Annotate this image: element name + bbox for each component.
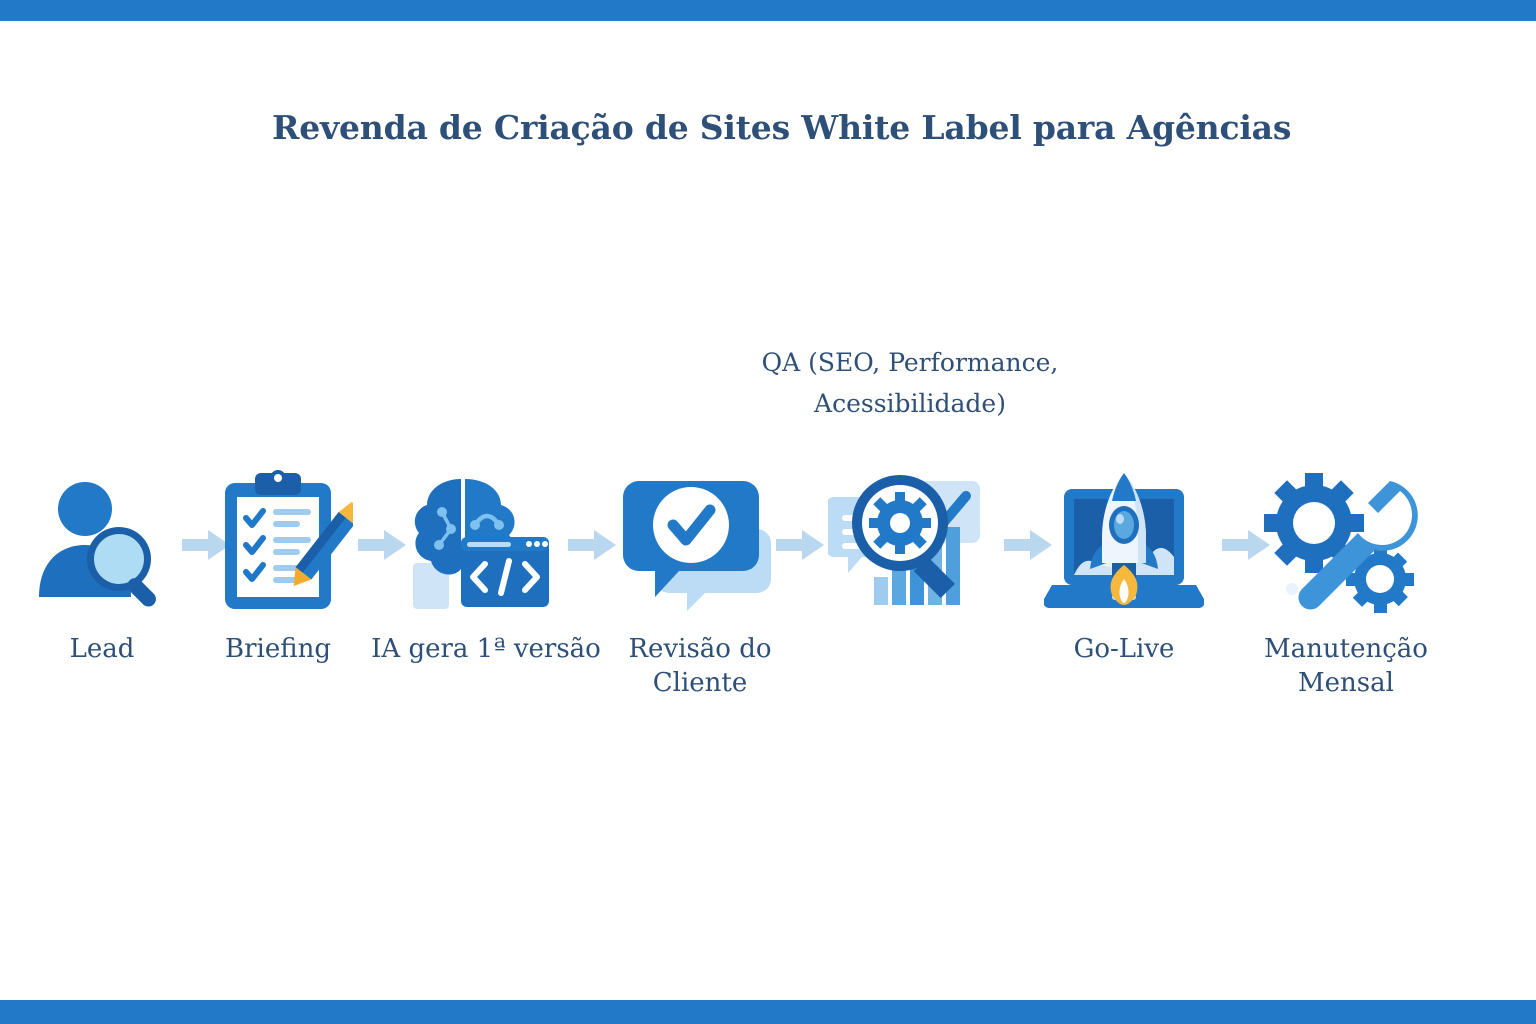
gears-wrench-icon: [1262, 462, 1422, 622]
flow-step-go-live[interactable]: [1044, 462, 1204, 622]
rocket-laptop-icon: [1044, 462, 1204, 622]
flow-label-go-live: Go-Live: [1009, 632, 1239, 666]
arrow-right-icon: [568, 530, 616, 560]
flow-label-briefing: Briefing: [163, 632, 393, 666]
flow-step-briefing[interactable]: [198, 462, 358, 622]
process-flow: [0, 462, 1536, 622]
bottom-accent-bar: [0, 1000, 1536, 1024]
brain-code-window-icon: [398, 462, 558, 622]
person-search-icon: [22, 462, 182, 622]
flow-step-ia-versao[interactable]: [398, 462, 558, 622]
clipboard-checklist-pencil-icon: [198, 462, 358, 622]
arrow-right-icon: [776, 530, 824, 560]
flow-step-manutencao[interactable]: [1262, 462, 1422, 622]
qa-annotation: QA (SEO, Performance, Acessibilidade): [760, 342, 1060, 424]
flow-step-lead[interactable]: [22, 462, 182, 622]
flow-label-revisao: Revisão do Cliente: [585, 632, 815, 700]
flow-step-revisao[interactable]: [618, 462, 778, 622]
magnifier-gear-chart-icon: [828, 462, 988, 622]
flow-label-ia-versao: IA gera 1ª versão: [371, 632, 601, 666]
flow-step-qa[interactable]: [828, 462, 988, 622]
speech-bubble-check-icon: [618, 462, 778, 622]
top-accent-bar: [0, 0, 1536, 21]
page-title: Revenda de Criação de Sites White Label …: [272, 108, 1291, 147]
flow-label-manutencao: Manutenção Mensal: [1231, 632, 1461, 700]
